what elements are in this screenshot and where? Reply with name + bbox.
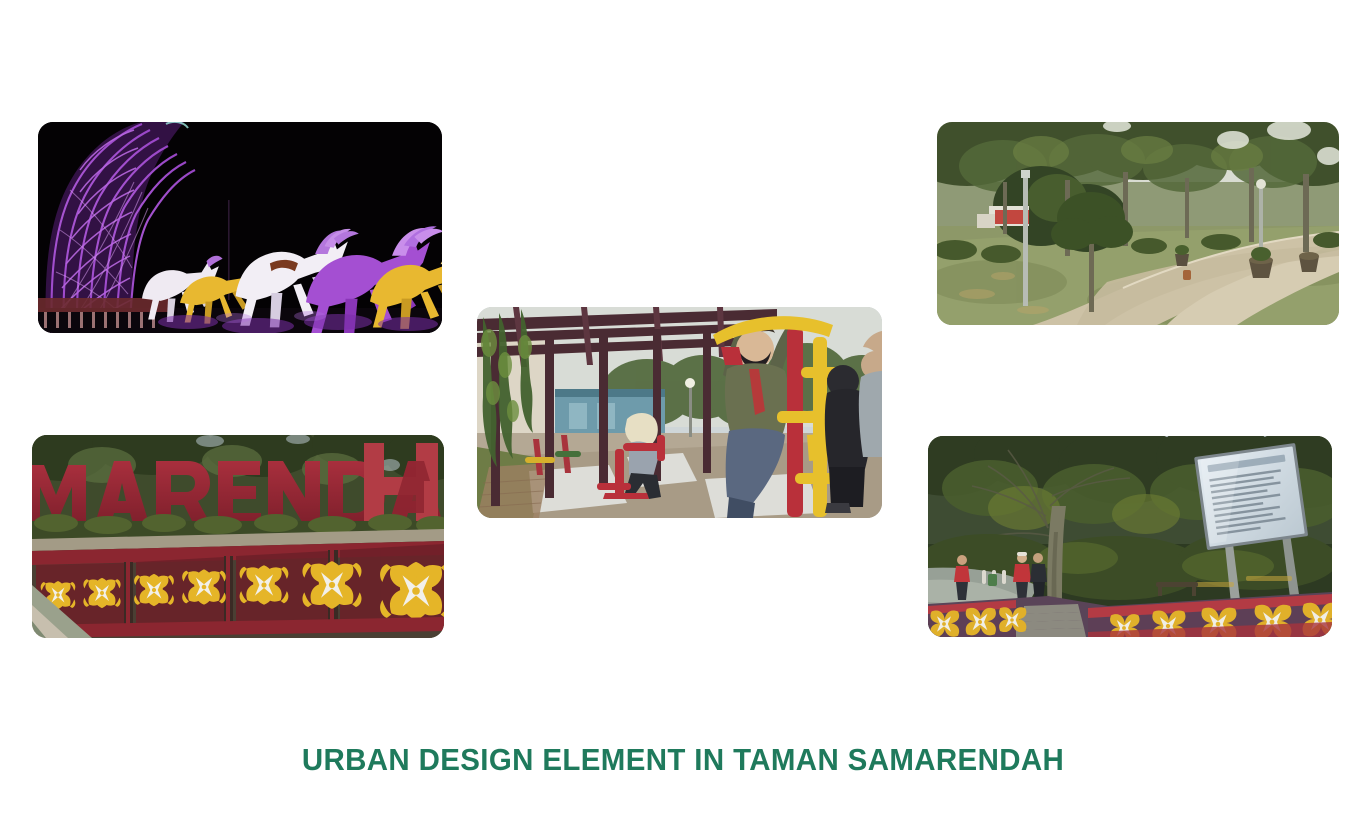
page-title: URBAN DESIGN ELEMENT IN TAMAN SAMARENDAH [34,742,1332,778]
landmark-illustration [38,122,442,333]
planter [1299,252,1319,272]
pedestrian-photo[interactable] [937,122,1339,325]
card-culture[interactable]: Culture Identity in Material [32,435,444,638]
culture-illustration [32,435,444,638]
planter [1249,247,1273,278]
poster-canvas: Landmark and Statue [0,0,1366,829]
card-sport[interactable]: Sport Facilities [477,307,882,518]
sport-illustration [477,307,882,518]
card-signage[interactable]: Signage and Information [928,436,1332,637]
planter [1175,245,1189,266]
culture-photo[interactable] [32,435,444,638]
card-pedestrian[interactable]: Pedestrian Way and Green Infrastructure [937,122,1339,325]
pedestrian-illustration [937,122,1339,325]
signage-illustration [928,436,1332,637]
card-landmark[interactable]: Landmark and Statue [38,122,442,333]
landmark-photo[interactable] [38,122,442,333]
signage-photo[interactable] [928,436,1332,637]
sport-photo[interactable] [477,307,882,518]
